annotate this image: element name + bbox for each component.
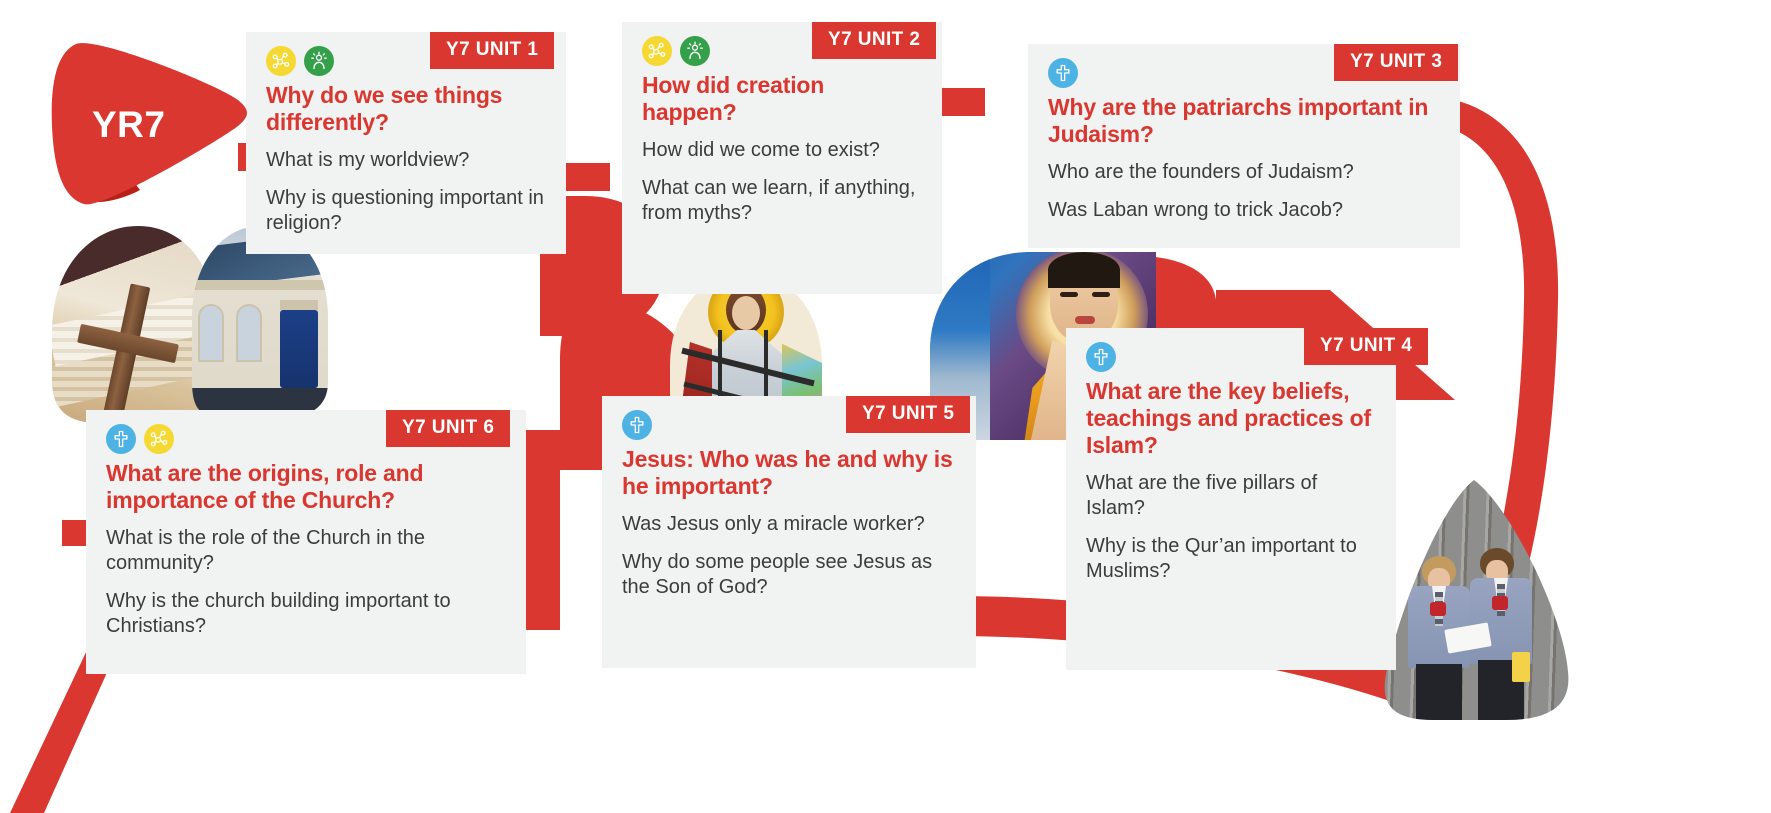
unit-3-title: Why are the patriarchs important in Juda… bbox=[1048, 94, 1440, 148]
unit-4-question-1: What are the five pillars of Islam? bbox=[1086, 471, 1376, 521]
enlightenment-icon bbox=[304, 46, 334, 76]
cross-icon bbox=[1048, 58, 1078, 88]
unit-1-question-1: What is my worldview? bbox=[266, 148, 546, 173]
network-icon bbox=[266, 46, 296, 76]
unit-badge-3[interactable]: Y7 UNIT 3 bbox=[1334, 44, 1458, 81]
unit-card-4[interactable]: What are the key beliefs, teachings and … bbox=[1066, 328, 1396, 670]
unit-badge-4[interactable]: Y7 UNIT 4 bbox=[1304, 328, 1428, 365]
unit-3-question-1: Who are the founders of Judaism? bbox=[1048, 160, 1440, 185]
unit-5-question-1: Was Jesus only a miracle worker? bbox=[622, 512, 956, 537]
unit-badge-5[interactable]: Y7 UNIT 5 bbox=[846, 396, 970, 433]
year-badge-label: YR7 bbox=[92, 104, 165, 146]
unit-2-question-2: What can we learn, if anything, from myt… bbox=[642, 176, 922, 226]
unit-1-title: Why do we see things differently? bbox=[266, 82, 546, 136]
unit-badge-1[interactable]: Y7 UNIT 1 bbox=[430, 32, 554, 69]
unit-5-question-2: Why do some people see Jesus as the Son … bbox=[622, 550, 956, 600]
cross-icon bbox=[106, 424, 136, 454]
unit-2-question-1: How did we come to exist? bbox=[642, 138, 922, 163]
unit-4-title: What are the key beliefs, teachings and … bbox=[1086, 378, 1376, 459]
unit-badge-6[interactable]: Y7 UNIT 6 bbox=[386, 410, 510, 447]
unit-6-title: What are the origins, role and importanc… bbox=[106, 460, 506, 514]
cross-icon bbox=[1086, 342, 1116, 372]
unit-2-title: How did creation happen? bbox=[642, 72, 922, 126]
unit-6-question-1: What is the role of the Church in the co… bbox=[106, 526, 506, 576]
unit-3-question-2: Was Laban wrong to trick Jacob? bbox=[1048, 198, 1440, 223]
unit-6-question-2: Why is the church building important to … bbox=[106, 589, 506, 639]
unit-4-question-2: Why is the Qur’an important to Muslims? bbox=[1086, 534, 1376, 584]
unit-card-5[interactable]: Jesus: Who was he and why is he importan… bbox=[602, 396, 976, 668]
unit-1-question-2: Why is questioning important in religion… bbox=[266, 186, 546, 236]
unit-card-6[interactable]: What are the origins, role and importanc… bbox=[86, 410, 526, 674]
cross-icon bbox=[622, 410, 652, 440]
unit-card-2[interactable]: How did creation happen? How did we come… bbox=[622, 22, 942, 294]
enlightenment-icon bbox=[680, 36, 710, 66]
unit-5-title: Jesus: Who was he and why is he importan… bbox=[622, 446, 956, 500]
network-icon bbox=[642, 36, 672, 66]
network-icon bbox=[144, 424, 174, 454]
curriculum-roadmap: YR7 bbox=[0, 0, 1771, 813]
unit-badge-2[interactable]: Y7 UNIT 2 bbox=[812, 22, 936, 59]
